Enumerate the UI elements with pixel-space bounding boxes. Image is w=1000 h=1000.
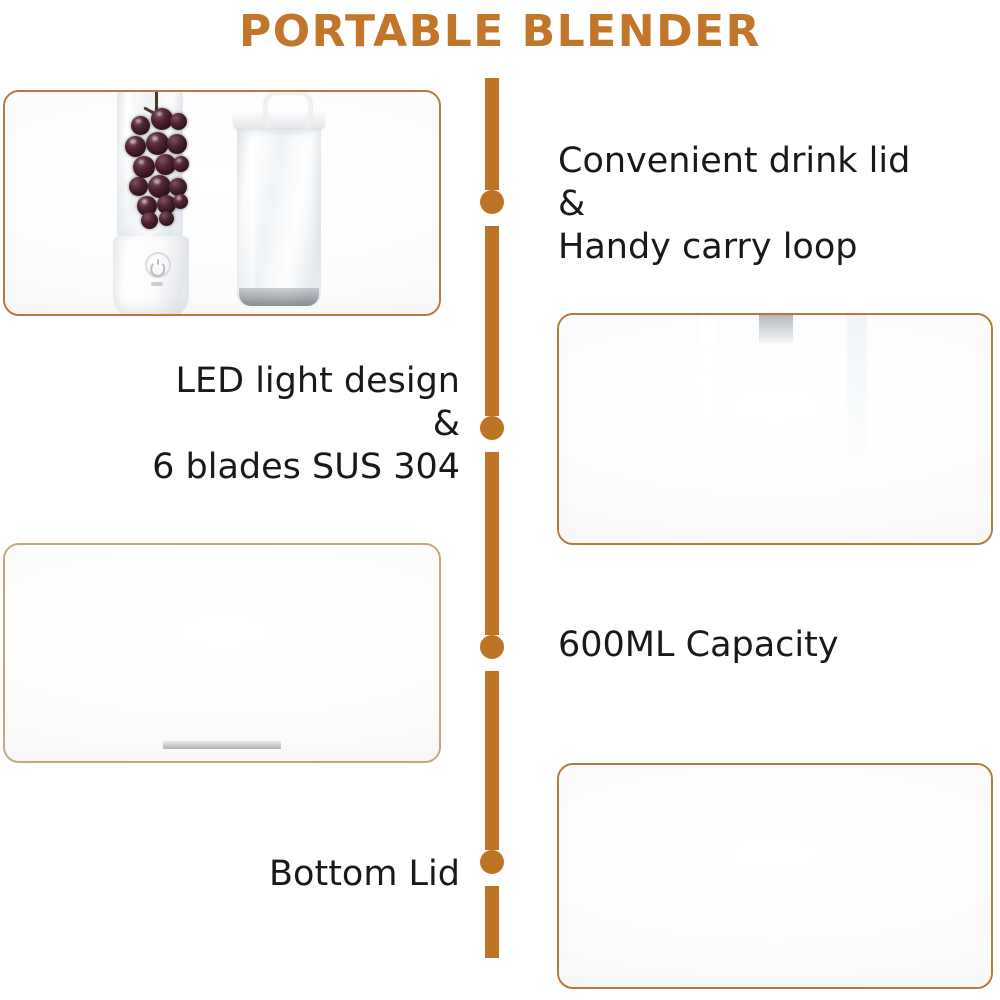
page-title: PORTABLE BLENDER [0, 4, 1000, 60]
caption-bottom-lid: Bottom Lid [40, 853, 460, 896]
connector-segment [485, 452, 499, 635]
connector-node [480, 416, 504, 440]
connector-node [480, 635, 504, 659]
power-button-icon [145, 252, 171, 278]
red-smoothie-blending-photo [3, 543, 441, 763]
connector-segment [485, 671, 499, 850]
blender-with-grapes-and-clear-bottle-photo [3, 90, 441, 316]
caption-led-blades: LED light design & 6 blades SUS 304 [40, 360, 460, 489]
vertical-connector-timeline [485, 78, 499, 958]
connector-node [480, 850, 504, 874]
led-indicator-icon [151, 282, 163, 286]
connector-segment [485, 886, 499, 958]
connector-segment [485, 226, 499, 416]
green-led-base-with-blades-photo: Align the arrow with switch Double click… [557, 313, 993, 545]
caption-drink-lid: Convenient drink lid & Handy carry loop [558, 140, 958, 269]
connector-segment [485, 78, 499, 190]
caption-capacity: 600ML Capacity [558, 624, 958, 667]
product-infographic: PORTABLE BLENDER [0, 0, 1000, 1000]
bottom-lid-tilted-photo [557, 763, 993, 989]
connector-node [480, 190, 504, 214]
